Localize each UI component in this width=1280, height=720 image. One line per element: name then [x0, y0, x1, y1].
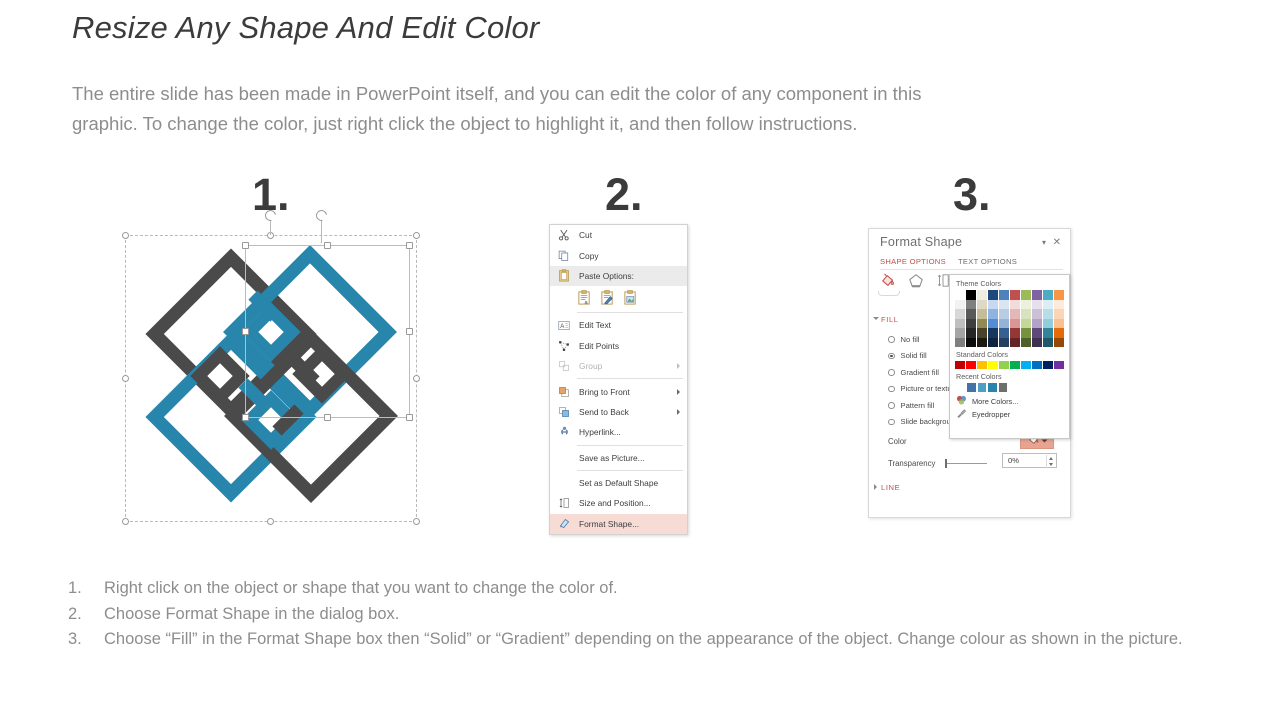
instruction-text: Right click on the object or shape that …: [104, 576, 1268, 602]
menu-item-group: Group: [550, 356, 687, 376]
radio-label: Solid fill: [901, 351, 927, 360]
standard-color-swatch[interactable]: [1010, 361, 1020, 369]
menu-item-save-as-picture[interactable]: Save as Picture...: [550, 448, 687, 468]
shape-graphic-panel[interactable]: [125, 235, 417, 522]
inner-resize-handle-sw[interactable]: [242, 414, 249, 421]
theme-colors-label: Theme Colors: [956, 279, 1065, 288]
line-section-expand-icon[interactable]: [874, 484, 877, 490]
more-colors-item[interactable]: More Colors...: [954, 395, 1065, 408]
theme-colors-base-row[interactable]: [955, 290, 1064, 300]
spinner-down-icon[interactable]: [1049, 463, 1053, 466]
menu-item-copy[interactable]: Copy: [550, 245, 687, 265]
menu-item-send-to-back[interactable]: Send to Back: [550, 402, 687, 422]
scissors-icon: [557, 228, 571, 242]
color-swatch[interactable]: [1021, 328, 1031, 338]
theme-colors-row[interactable]: [955, 338, 1064, 348]
recent-colors-label: Recent Colors: [956, 372, 1065, 381]
color-swatch[interactable]: [1010, 328, 1020, 338]
inner-resize-handle-s[interactable]: [324, 414, 331, 421]
menu-item-format-shape[interactable]: Format Shape...: [550, 514, 687, 534]
standard-color-swatch[interactable]: [966, 361, 976, 369]
color-swatch[interactable]: [1010, 338, 1020, 348]
menu-label: Group: [579, 361, 602, 371]
format-shape-icon-row[interactable]: [880, 273, 950, 293]
color-swatch[interactable]: [1043, 328, 1053, 338]
color-swatch[interactable]: [966, 338, 976, 348]
color-swatch[interactable]: [1010, 309, 1020, 319]
menu-label: Set as Default Shape: [579, 478, 658, 488]
color-swatch[interactable]: [988, 319, 998, 329]
menu-label: Cut: [579, 230, 592, 240]
menu-item-bring-to-front[interactable]: Bring to Front: [550, 381, 687, 401]
step-number-3: 3.: [953, 172, 991, 217]
send-to-back-icon: [557, 405, 571, 419]
color-swatch[interactable]: [977, 309, 987, 319]
color-swatch[interactable]: [955, 309, 965, 319]
recent-color-swatch[interactable]: [999, 383, 1008, 392]
menu-item-paste-options[interactable]: Paste Options:: [550, 266, 687, 286]
resize-handle-ne[interactable]: [413, 232, 420, 239]
menu-label: Edit Text: [579, 320, 611, 330]
hyperlink-icon: [557, 425, 571, 439]
radio-label: Pattern fill: [901, 401, 935, 410]
radio-indicator[interactable]: [888, 386, 895, 393]
instruction-text: Choose “Fill” in the Format Shape box th…: [104, 627, 1268, 653]
eyedropper-item[interactable]: Eyedropper: [954, 408, 1065, 421]
menu-item-edit-points[interactable]: Edit Points: [550, 336, 687, 356]
paste-options-icon-row[interactable]: a: [550, 286, 687, 310]
menu-item-set-as-default-shape[interactable]: Set as Default Shape: [550, 473, 687, 493]
color-swatch[interactable]: [1021, 319, 1031, 329]
resize-handle-w[interactable]: [122, 375, 129, 382]
color-swatch[interactable]: [955, 290, 965, 300]
format-shape-tabs[interactable]: SHAPE OPTIONS TEXT OPTIONS: [880, 257, 1017, 266]
inner-resize-handle-e[interactable]: [406, 328, 413, 335]
tab-divider: [880, 269, 1063, 270]
color-swatch[interactable]: [1010, 290, 1020, 300]
menu-label: Copy: [579, 251, 599, 261]
color-swatch[interactable]: [1043, 319, 1053, 329]
color-swatch[interactable]: [977, 319, 987, 329]
inner-resize-handle-se[interactable]: [406, 414, 413, 421]
color-swatch[interactable]: [955, 338, 965, 348]
instruction-number: 2.: [68, 602, 104, 628]
chevron-right-icon: [677, 409, 680, 415]
page-subtitle: The entire slide has been made in PowerP…: [72, 79, 1212, 139]
color-swatch[interactable]: [1032, 328, 1042, 338]
resize-handle-nw[interactable]: [122, 232, 129, 239]
more-colors-icon: [956, 395, 967, 407]
color-swatch[interactable]: [1054, 309, 1064, 319]
inner-resize-handle-ne[interactable]: [406, 242, 413, 249]
slider-thumb[interactable]: [945, 459, 947, 468]
rotation-stem-outer: [270, 221, 271, 235]
theme-colors-row[interactable]: [955, 328, 1064, 338]
theme-colors-row[interactable]: [955, 319, 1064, 329]
inner-resize-handle-n[interactable]: [324, 242, 331, 249]
color-swatch[interactable]: [1021, 300, 1031, 310]
resize-handle-e[interactable]: [413, 375, 420, 382]
slide-canvas: Resize Any Shape And Edit Color The enti…: [0, 0, 1280, 720]
color-picker-flyout[interactable]: Theme Colors Standard Colors Recent Colo…: [949, 274, 1070, 439]
color-swatch[interactable]: [1021, 338, 1031, 348]
color-label: Color: [888, 437, 907, 446]
color-swatch[interactable]: [1010, 300, 1020, 310]
color-swatch[interactable]: [988, 328, 998, 338]
theme-colors-row[interactable]: [955, 309, 1064, 319]
color-swatch[interactable]: [999, 328, 1009, 338]
color-swatch[interactable]: [1054, 319, 1064, 329]
recent-color-swatch[interactable]: [988, 383, 997, 392]
menu-item-edit-text[interactable]: A Edit Text: [550, 315, 687, 335]
color-swatch[interactable]: [988, 309, 998, 319]
chevron-right-icon: [677, 389, 680, 395]
color-swatch[interactable]: [999, 338, 1009, 348]
group-icon: [557, 359, 571, 373]
color-swatch[interactable]: [1043, 290, 1053, 300]
color-swatch[interactable]: [977, 300, 987, 310]
color-swatch[interactable]: [1021, 290, 1031, 300]
inner-selection-box[interactable]: [245, 245, 410, 418]
color-swatch[interactable]: [955, 319, 965, 329]
tab-shape-options[interactable]: SHAPE OPTIONS: [880, 257, 946, 266]
color-swatch[interactable]: [988, 338, 998, 348]
color-swatch[interactable]: [999, 319, 1009, 329]
radio-indicator[interactable]: [888, 336, 895, 343]
color-swatch[interactable]: [1043, 309, 1053, 319]
standard-colors-row[interactable]: [955, 361, 1064, 369]
more-colors-label: More Colors...: [972, 397, 1018, 406]
eyedropper-label: Eyedropper: [972, 410, 1010, 419]
color-swatch[interactable]: [999, 290, 1009, 300]
standard-color-swatch[interactable]: [1043, 361, 1053, 369]
color-swatch[interactable]: [966, 328, 976, 338]
rotation-stem-inner: [321, 221, 322, 243]
color-swatch[interactable]: [977, 290, 987, 300]
transparency-spinner[interactable]: 0%: [1002, 453, 1057, 468]
color-swatch[interactable]: [1054, 338, 1064, 348]
paste-keep-source-icon[interactable]: a: [577, 290, 592, 306]
paste-picture-icon[interactable]: [623, 290, 638, 306]
chevron-down-icon[interactable]: [1042, 440, 1048, 443]
size-layout-icon[interactable]: [936, 273, 950, 293]
instruction-item: 3. Choose “Fill” in the Format Shape box…: [68, 627, 1268, 653]
color-swatch[interactable]: [955, 328, 965, 338]
color-swatch[interactable]: [1021, 309, 1031, 319]
standard-color-swatch[interactable]: [1032, 361, 1042, 369]
radio-indicator[interactable]: [888, 419, 895, 426]
fill-section-header[interactable]: FILL: [881, 315, 899, 324]
page-title: Resize Any Shape And Edit Color: [72, 10, 539, 46]
menu-label: Send to Back: [579, 407, 629, 417]
line-section-header[interactable]: LINE: [881, 483, 900, 492]
color-swatch[interactable]: [1032, 290, 1042, 300]
edit-points-icon: [557, 339, 571, 353]
menu-label: Edit Points: [579, 341, 619, 351]
recent-color-swatch[interactable]: [967, 383, 976, 392]
menu-label: Bring to Front: [579, 387, 630, 397]
menu-separator: [577, 445, 683, 446]
standard-color-swatch[interactable]: [988, 361, 998, 369]
format-shape-icon: [557, 517, 571, 531]
menu-item-size-and-position[interactable]: Size and Position...: [550, 493, 687, 513]
color-swatch[interactable]: [1054, 328, 1064, 338]
slider-track: [947, 463, 987, 464]
subtitle-line-2: graphic. To change the color, just right…: [72, 109, 1212, 139]
color-swatch[interactable]: [1043, 338, 1053, 348]
color-swatch[interactable]: [1043, 300, 1053, 310]
resize-handle-s[interactable]: [267, 518, 274, 525]
menu-item-cut[interactable]: Cut: [550, 225, 687, 245]
radio-label: No fill: [901, 335, 920, 344]
color-swatch[interactable]: [1010, 319, 1020, 329]
instruction-number: 1.: [68, 576, 104, 602]
spinner-up-icon[interactable]: [1049, 457, 1053, 460]
theme-colors-variant-rows[interactable]: [954, 300, 1065, 348]
svg-text:A: A: [560, 324, 564, 330]
context-menu[interactable]: Cut Copy Paste Options:: [549, 224, 688, 535]
menu-label: Save as Picture...: [579, 453, 645, 463]
edit-text-icon: A: [557, 318, 571, 332]
transparency-value: 0%: [1008, 456, 1019, 465]
resize-handle-sw[interactable]: [122, 518, 129, 525]
color-swatch[interactable]: [1054, 300, 1064, 310]
menu-separator: [577, 378, 683, 379]
instructions-list: 1. Right click on the object or shape th…: [68, 576, 1268, 653]
instruction-item: 1. Right click on the object or shape th…: [68, 576, 1268, 602]
chevron-right-icon: [677, 363, 680, 369]
color-swatch[interactable]: [988, 300, 998, 310]
color-swatch[interactable]: [977, 338, 987, 348]
radio-label: Gradient fill: [901, 368, 939, 377]
effects-pentagon-icon[interactable]: [908, 273, 924, 293]
standard-color-swatch[interactable]: [977, 361, 987, 369]
resize-handle-se[interactable]: [413, 518, 420, 525]
recent-color-swatch[interactable]: [978, 383, 987, 392]
menu-item-hyperlink[interactable]: Hyperlink...: [550, 422, 687, 442]
fill-bucket-icon[interactable]: [880, 273, 896, 293]
color-swatch[interactable]: [1032, 319, 1042, 329]
radio-indicator[interactable]: [888, 402, 895, 409]
bring-to-front-icon: [557, 385, 571, 399]
color-swatch[interactable]: [966, 309, 976, 319]
close-icon[interactable]: ✕: [1053, 237, 1061, 248]
copy-icon: [557, 249, 571, 263]
transparency-row[interactable]: Transparency 0%: [888, 458, 1063, 468]
color-swatch[interactable]: [1032, 338, 1042, 348]
format-shape-title: Format Shape: [880, 235, 962, 249]
active-icon-underline: [878, 291, 900, 296]
inner-resize-handle-w[interactable]: [242, 328, 249, 335]
color-swatch[interactable]: [977, 328, 987, 338]
inner-resize-handle-nw[interactable]: [242, 242, 249, 249]
fill-section-collapse-icon[interactable]: [873, 317, 879, 320]
radio-indicator[interactable]: [888, 369, 895, 376]
color-swatch[interactable]: [966, 319, 976, 329]
tab-text-options[interactable]: TEXT OPTIONS: [958, 257, 1017, 266]
menu-label: Size and Position...: [579, 498, 651, 508]
color-swatch[interactable]: [1054, 290, 1064, 300]
step-number-2: 2.: [605, 172, 643, 217]
color-swatch[interactable]: [966, 290, 976, 300]
spinner-arrows[interactable]: [1046, 455, 1054, 468]
size-position-icon: [557, 496, 571, 510]
format-shape-pane[interactable]: Format Shape ▾ ✕ SHAPE OPTIONS TEXT OPTI…: [868, 228, 1071, 518]
color-swatch[interactable]: [1032, 300, 1042, 310]
standard-color-swatch[interactable]: [955, 361, 965, 369]
theme-colors-row[interactable]: [955, 300, 1064, 310]
clipboard-icon: [557, 269, 571, 283]
paste-destination-theme-icon[interactable]: [600, 290, 615, 306]
menu-label: Format Shape...: [579, 519, 639, 529]
transparency-slider[interactable]: [941, 458, 989, 468]
instruction-number: 3.: [68, 627, 104, 653]
standard-color-swatch[interactable]: [999, 361, 1009, 369]
menu-separator: [577, 470, 683, 471]
menu-label: Hyperlink...: [579, 427, 621, 437]
standard-color-swatch[interactable]: [1021, 361, 1031, 369]
color-swatch[interactable]: [988, 290, 998, 300]
pane-options-dropdown-icon[interactable]: ▾: [1042, 238, 1046, 247]
eyedropper-icon: [956, 408, 967, 420]
standard-color-swatch[interactable]: [1054, 361, 1064, 369]
subtitle-line-1: The entire slide has been made in PowerP…: [72, 79, 1212, 109]
instruction-item: 2. Choose Format Shape in the dialog box…: [68, 602, 1268, 628]
color-swatch[interactable]: [1032, 309, 1042, 319]
instruction-text: Choose Format Shape in the dialog box.: [104, 602, 1268, 628]
menu-label: Paste Options:: [579, 271, 634, 281]
standard-colors-label: Standard Colors: [956, 350, 1065, 359]
color-swatch[interactable]: [966, 300, 976, 310]
color-swatch[interactable]: [955, 300, 965, 310]
color-swatch[interactable]: [999, 300, 1009, 310]
transparency-label: Transparency: [888, 459, 935, 468]
color-swatch[interactable]: [999, 309, 1009, 319]
recent-colors-row[interactable]: [967, 383, 1065, 392]
rotate-handle-inner[interactable]: [314, 208, 329, 223]
menu-separator: [577, 312, 683, 313]
radio-indicator-selected[interactable]: [888, 353, 895, 360]
